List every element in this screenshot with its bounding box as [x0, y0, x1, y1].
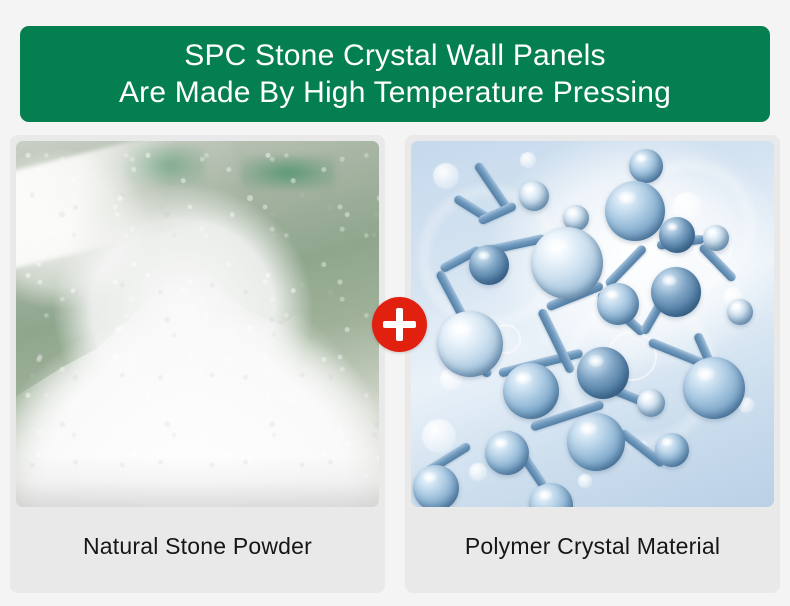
atom-specular-highlight: [606, 290, 619, 299]
atom-specular-highlight: [569, 209, 577, 215]
molecule-atom: [659, 217, 695, 253]
molecule-atom: [531, 227, 603, 299]
atom-specular-highlight: [478, 251, 490, 260]
atom-specular-highlight: [580, 422, 597, 435]
molecule-atom: [567, 413, 625, 471]
atom-specular-highlight: [588, 355, 604, 366]
atom-specular-highlight: [709, 229, 717, 235]
bokeh-circle: [433, 163, 459, 189]
molecule-atom: [437, 311, 503, 377]
promo-banner-page: SPC Stone Crystal Wall Panels Are Made B…: [0, 0, 790, 606]
polymer-crystal-material-photo: [411, 141, 774, 507]
atom-specular-highlight: [636, 154, 646, 161]
caption-natural-stone-powder: Natural Stone Powder: [16, 507, 379, 593]
plus-vertical-bar: [396, 308, 403, 341]
atom-specular-highlight: [733, 303, 741, 309]
molecule-atom: [605, 181, 665, 241]
bokeh-circle: [578, 474, 592, 488]
molecule-atom: [703, 225, 729, 251]
molecule-atom: [485, 431, 529, 475]
molecule-atom: [597, 283, 639, 325]
caption-polymer-crystal-material: Polymer Crystal Material: [411, 507, 774, 593]
atom-specular-highlight: [643, 393, 651, 399]
banner-title-line-1: SPC Stone Crystal Wall Panels: [184, 37, 606, 74]
atom-specular-highlight: [662, 275, 677, 286]
molecule-atom: [655, 433, 689, 467]
atom-specular-highlight: [697, 367, 716, 381]
powder-bottom-shadow: [16, 456, 379, 507]
atom-specular-highlight: [423, 472, 437, 482]
molecule-atom: [683, 357, 745, 419]
bokeh-circle: [422, 419, 456, 453]
header-banner: SPC Stone Crystal Wall Panels Are Made B…: [20, 26, 770, 122]
molecule-atom: [503, 363, 559, 419]
atom-specular-highlight: [662, 438, 672, 445]
molecule-atom: [637, 389, 665, 417]
card-natural-stone-powder: Natural Stone Powder: [10, 135, 385, 593]
powder-grain-texture: [16, 141, 379, 507]
atom-specular-highlight: [618, 191, 636, 204]
molecule-atom: [727, 299, 753, 325]
atom-specular-highlight: [526, 186, 535, 193]
banner-title-line-2: Are Made By High Temperature Pressing: [119, 74, 671, 111]
atom-specular-highlight: [539, 490, 552, 500]
atom-specular-highlight: [515, 372, 532, 384]
atom-specular-highlight: [547, 239, 569, 255]
atom-specular-highlight: [452, 322, 472, 337]
molecule-atom: [519, 181, 549, 211]
molecule-atom: [413, 465, 459, 507]
molecule-atom: [629, 149, 663, 183]
material-cards-row: Natural Stone Powder: [10, 135, 780, 593]
card-polymer-crystal-material: Polymer Crystal Material: [405, 135, 780, 593]
atom-specular-highlight: [495, 438, 508, 448]
molecule-atom: [651, 267, 701, 317]
atom-specular-highlight: [667, 223, 678, 231]
molecule-atom: [469, 245, 509, 285]
bokeh-circle: [520, 152, 536, 168]
molecule-atom: [577, 347, 629, 399]
plus-icon: [372, 297, 427, 352]
natural-stone-powder-photo: [16, 141, 379, 507]
